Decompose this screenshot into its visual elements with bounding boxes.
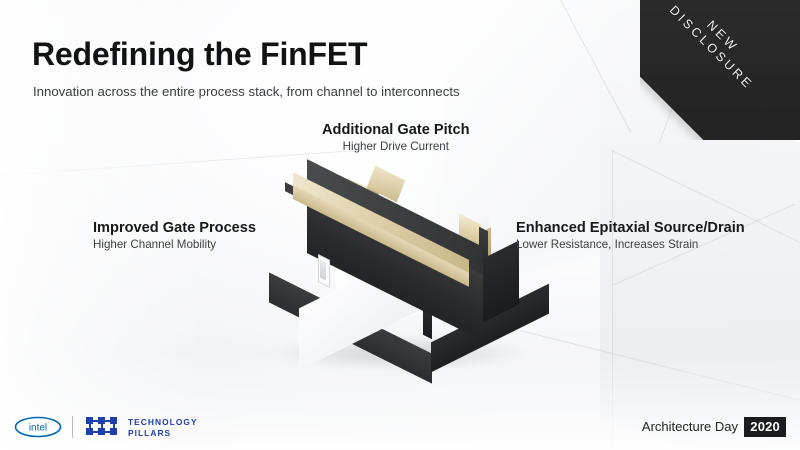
callout-improved-gate-process: Improved Gate Process Higher Channel Mob…: [93, 220, 256, 251]
technology-pillars-icon: [86, 417, 120, 436]
callout-additional-gate-pitch: Additional Gate Pitch Higher Drive Curre…: [322, 122, 470, 153]
callout-heading: Additional Gate Pitch: [322, 122, 470, 138]
new-disclosure-ribbon: NEW DISCLOSURE: [640, 0, 800, 140]
slide-canvas: NEW DISCLOSURE Redefining the FinFET Inn…: [0, 0, 800, 450]
footer-divider: [72, 416, 73, 438]
ribbon-triangle: [640, 0, 800, 140]
svg-text:intel: intel: [29, 423, 47, 434]
slide-footer: intel TECHNOLOGY PILLARS Architecture Da…: [0, 404, 800, 450]
pillars-line-2: PILLARS: [128, 428, 198, 439]
callout-subtext: Higher Drive Current: [322, 140, 470, 153]
event-year-badge: 2020: [744, 417, 786, 437]
cross-section-window-inner: [320, 260, 326, 281]
page-subtitle: Innovation across the entire process sta…: [33, 84, 460, 99]
event-name: Architecture Day: [642, 419, 738, 434]
callout-subtext: Lower Resistance, Increases Strain: [516, 238, 745, 251]
callout-subtext: Higher Channel Mobility: [93, 238, 256, 251]
page-title: Redefining the FinFET: [32, 36, 367, 73]
technology-pillars-label: TECHNOLOGY PILLARS: [128, 417, 198, 438]
callout-heading: Improved Gate Process: [93, 220, 256, 236]
callout-enhanced-epitaxial-source-drain: Enhanced Epitaxial Source/Drain Lower Re…: [516, 220, 745, 251]
callout-heading: Enhanced Epitaxial Source/Drain: [516, 220, 745, 236]
intel-logo: intel: [14, 416, 62, 438]
pillars-line-1: TECHNOLOGY: [128, 417, 198, 428]
finfet-3d-illustration: [255, 185, 555, 385]
